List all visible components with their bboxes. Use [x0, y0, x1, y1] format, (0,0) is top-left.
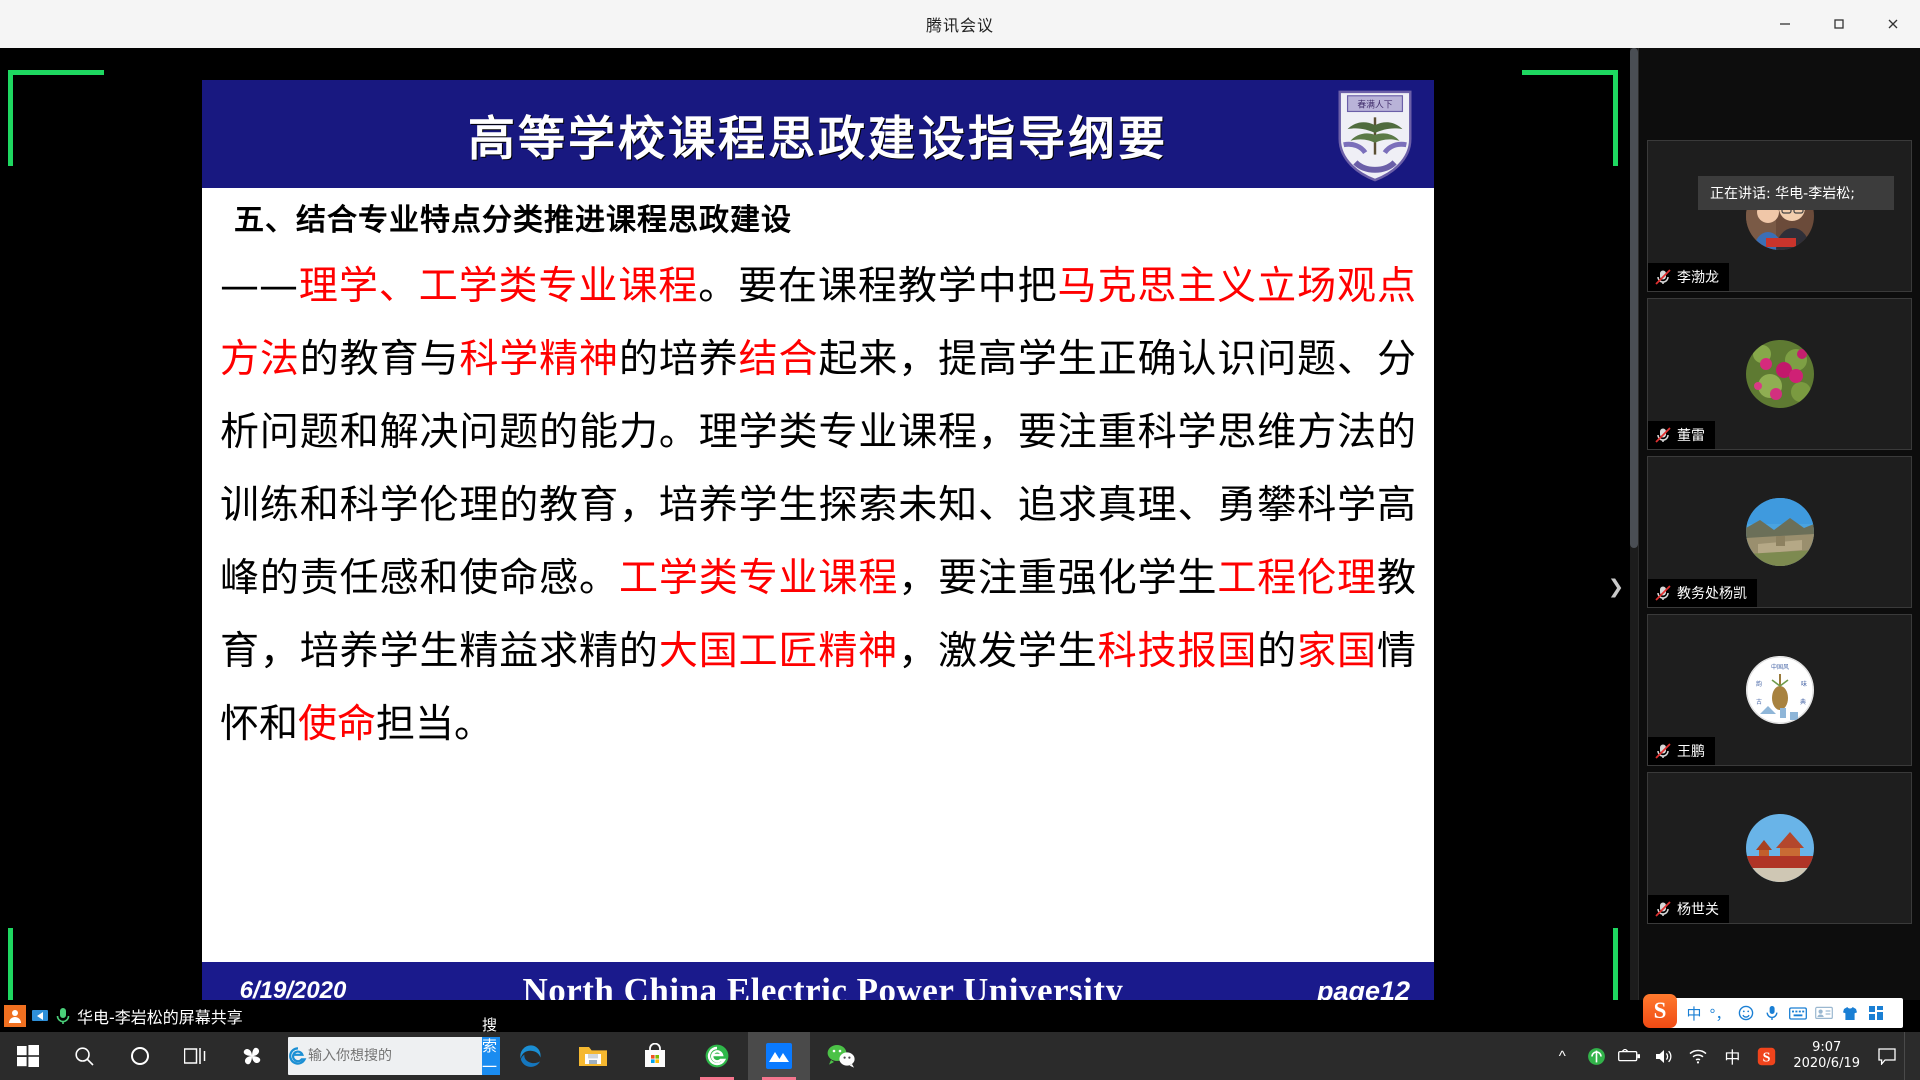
ime-keyboard-icon[interactable] — [1785, 998, 1811, 1028]
microphone-muted-icon — [1654, 426, 1672, 444]
clock-time: 9:07 — [1793, 1040, 1860, 1056]
paragraph-run: 使命 — [298, 702, 376, 747]
search-input[interactable] — [308, 1048, 482, 1064]
paragraph-run: ，要注重强化学生 — [898, 556, 1217, 601]
windows-start-icon[interactable] — [0, 1032, 56, 1080]
taskbar-app-file-explorer[interactable] — [562, 1032, 624, 1080]
system-tray: ^ 中 S 9:07 2020/6/19 — [1545, 1032, 1920, 1080]
participant-name-badge: 教务处杨凯 — [1648, 579, 1757, 607]
sogou-logo-icon[interactable]: S — [1643, 994, 1677, 1028]
maximize-icon[interactable] — [1812, 0, 1866, 48]
microphone-muted-icon — [1654, 584, 1672, 602]
slide-header: 高等学校课程思政建设指导纲要 春满人下 — [202, 80, 1434, 188]
window-titlebar: 腾讯会议 — [0, 0, 1920, 48]
sogou-pinwheel-icon[interactable] — [224, 1032, 280, 1080]
microphone-icon[interactable] — [54, 1006, 72, 1026]
svg-text:S: S — [1762, 1050, 1770, 1065]
shield-green-icon[interactable] — [1579, 1032, 1613, 1080]
svg-text:古: 古 — [1756, 698, 1762, 706]
svg-text:韵: 韵 — [1756, 680, 1762, 688]
participant-tile[interactable]: 李渤龙 — [1647, 140, 1912, 292]
participants-scrollbar-thumb[interactable] — [1630, 48, 1638, 548]
svg-text:典: 典 — [1800, 698, 1806, 706]
participant-name-badge: 李渤龙 — [1648, 263, 1729, 291]
participant-name: 杨世关 — [1677, 899, 1719, 919]
show-desktop-button[interactable] — [1904, 1032, 1918, 1080]
participant-name-badge: 王鹏 — [1648, 737, 1715, 765]
wifi-icon[interactable] — [1681, 1032, 1715, 1080]
paragraph-run: 的培养 — [619, 337, 739, 382]
ime-voice-icon[interactable] — [1759, 998, 1785, 1028]
cortana-circle-icon[interactable] — [112, 1032, 168, 1080]
battery-icon[interactable] — [1613, 1032, 1647, 1080]
microphone-muted-icon — [1654, 268, 1672, 286]
participants-scrollbar[interactable] — [1630, 48, 1638, 1008]
ime-punctuation-icon[interactable]: °， — [1707, 998, 1733, 1028]
minimize-icon[interactable] — [1758, 0, 1812, 48]
screen-share-label: 华电-李岩松的屏幕共享 — [77, 1004, 243, 1028]
microphone-muted-icon — [1654, 742, 1672, 760]
ime-items: 中 °， — [1681, 998, 1889, 1028]
participant-name-badge: 杨世关 — [1648, 895, 1729, 923]
paragraph-run: 科技报国 — [1098, 629, 1258, 674]
ime-card-icon[interactable] — [1811, 998, 1837, 1028]
clock-date: 2020/6/19 — [1793, 1056, 1860, 1072]
university-crest-icon: 春满人下 — [1326, 84, 1424, 184]
app-root: 腾讯会议 高等学校课程思政建设指导纲要 — [0, 0, 1920, 1080]
slide-section-heading: 五、结合专业特点分类推进课程思政建设 — [220, 198, 1416, 244]
avatar — [1746, 814, 1814, 882]
slide-paragraph: ——理学、工学类专业课程。要在课程教学中把马克思主义立场观点方法的教育与科学精神… — [220, 250, 1416, 761]
paragraph-run: 的 — [1257, 629, 1297, 674]
person-icon — [4, 1005, 26, 1027]
participant-tile[interactable]: 中国风 韵 味 古 典 — [1647, 614, 1912, 766]
taskbar-clock[interactable]: 9:07 2020/6/19 — [1783, 1040, 1870, 1072]
ime-emoji-icon[interactable] — [1733, 998, 1759, 1028]
svg-text:中国风: 中国风 — [1770, 663, 1788, 671]
participant-name: 李渤龙 — [1677, 267, 1719, 287]
participant-tile[interactable]: 董雷 — [1647, 298, 1912, 450]
share-corner-top-left — [8, 70, 104, 166]
svg-text:味: 味 — [1801, 680, 1807, 688]
participant-name: 王鹏 — [1677, 741, 1705, 761]
window-controls — [1758, 0, 1920, 48]
sogou-ime-toolbar[interactable]: S 中 °， — [1655, 998, 1903, 1028]
avatar — [1746, 498, 1814, 566]
ime-apps-grid-icon[interactable] — [1863, 998, 1889, 1028]
avatar — [1746, 340, 1814, 408]
participant-tile[interactable]: 杨世关 — [1647, 772, 1912, 924]
paragraph-run: 理学、工学类专业课程 — [298, 264, 698, 309]
speaking-toast: 正在讲话: 华电-李岩松; — [1698, 176, 1894, 210]
paragraph-run: 大国工匠精神 — [659, 629, 898, 674]
action-center-icon[interactable] — [1870, 1032, 1904, 1080]
svg-text:春满人下: 春满人下 — [1357, 99, 1392, 111]
paragraph-run: 的教育与 — [300, 337, 460, 382]
taskbar-search-box[interactable]: 搜索一下 — [288, 1037, 500, 1075]
shared-slide[interactable]: 高等学校课程思政建设指导纲要 春满人下 — [202, 80, 1434, 1020]
chevron-right-icon[interactable]: ❯ — [1605, 570, 1627, 604]
paragraph-run: 工学类专业课程 — [619, 556, 898, 601]
participant-tile[interactable]: 教务处杨凯 — [1647, 456, 1912, 608]
paragraph-run: 家国 — [1297, 629, 1377, 674]
paragraph-run: 科学精神 — [459, 337, 619, 382]
window-title: 腾讯会议 — [926, 12, 994, 36]
participant-name: 董雷 — [1677, 425, 1705, 445]
paragraph-run: 工程伦理 — [1217, 556, 1377, 601]
slide-body: 五、结合专业特点分类推进课程思政建设 ——理学、工学类专业课程。要在课程教学中把… — [202, 188, 1434, 958]
ime-chinese-mode-icon[interactable]: 中 — [1681, 998, 1707, 1028]
search-icon[interactable] — [56, 1032, 112, 1080]
taskbar-app-360-browser[interactable] — [686, 1032, 748, 1080]
windows-taskbar: 搜索一下 — [0, 1032, 1920, 1080]
participant-name-badge: 董雷 — [1648, 421, 1715, 449]
task-view-icon[interactable] — [168, 1032, 224, 1080]
taskbar-app-wechat[interactable] — [810, 1032, 872, 1080]
chevron-up-icon[interactable]: ^ — [1545, 1032, 1579, 1080]
taskbar-app-microsoft-store[interactable] — [624, 1032, 686, 1080]
paragraph-run: ，激发学生 — [898, 629, 1097, 674]
paragraph-run: 结合 — [739, 337, 819, 382]
meeting-stage: 高等学校课程思政建设指导纲要 春满人下 — [0, 48, 1920, 1008]
ie-icon — [288, 1046, 308, 1066]
paragraph-run: 担当。 — [376, 702, 493, 747]
share-corner-top-right — [1522, 70, 1618, 166]
ime-skin-icon[interactable] — [1837, 998, 1863, 1028]
participant-name: 教务处杨凯 — [1677, 583, 1747, 603]
screen-share-bar: 华电-李岩松的屏幕共享 — [0, 1000, 1920, 1032]
sogou-tray-icon[interactable]: S — [1749, 1032, 1783, 1080]
microphone-muted-icon — [1654, 900, 1672, 918]
screen-share-icon[interactable] — [31, 1006, 49, 1026]
paragraph-run: 。要在课程教学中把 — [698, 264, 1057, 309]
slide-title: 高等学校课程思政建设指导纲要 — [468, 100, 1168, 169]
avatar: 中国风 韵 味 古 典 — [1746, 656, 1814, 724]
paragraph-run: —— — [220, 264, 298, 309]
volume-icon[interactable] — [1647, 1032, 1681, 1080]
taskbar-app-microsoft-edge[interactable] — [500, 1032, 562, 1080]
search-submit-button[interactable]: 搜索一下 — [482, 1037, 500, 1075]
close-icon[interactable] — [1866, 0, 1920, 48]
taskbar-app-tencent-meeting[interactable] — [748, 1032, 810, 1080]
ime-chinese-icon[interactable]: 中 — [1715, 1032, 1749, 1080]
